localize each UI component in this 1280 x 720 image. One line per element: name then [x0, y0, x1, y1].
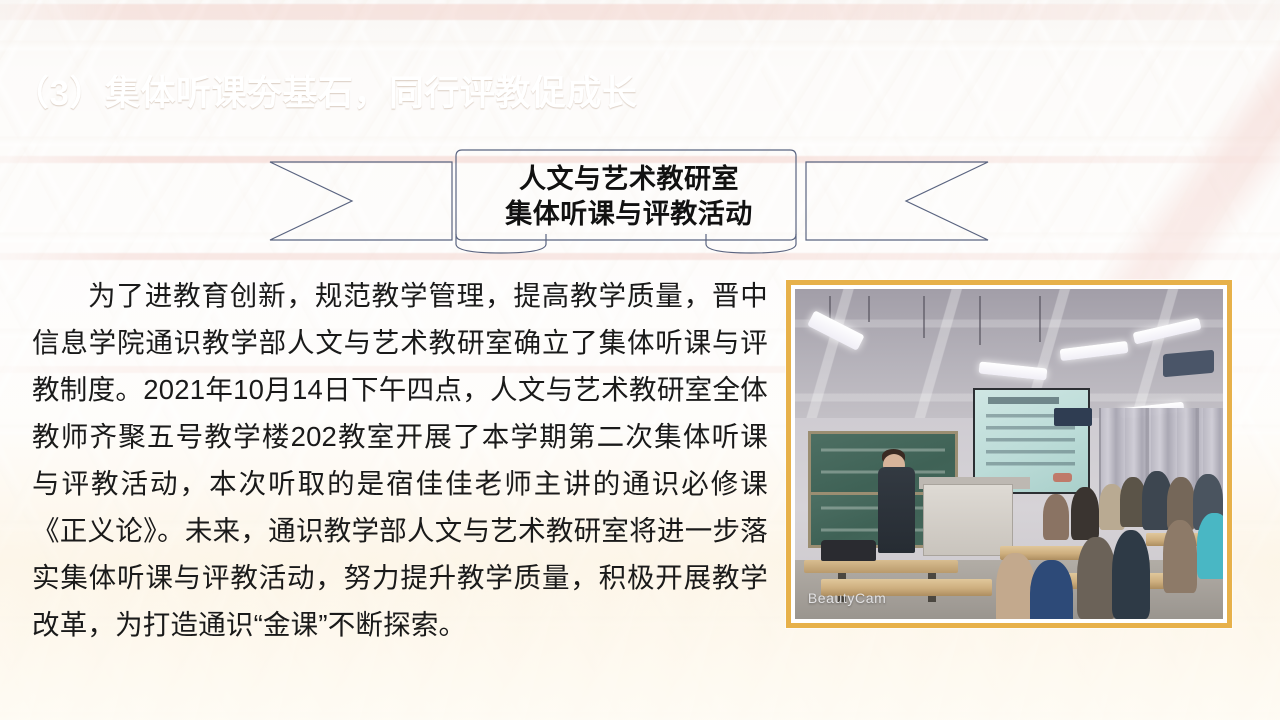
classroom-photo: BeautyCam: [795, 289, 1223, 619]
photo-bench: [804, 560, 958, 573]
ribbon-title: 人文与艺术教研室 集体听课与评教活动: [266, 162, 992, 231]
photo-student: [1112, 530, 1151, 619]
photo-student: [996, 553, 1035, 619]
ribbon-title-line-1: 人文与艺术教研室: [266, 162, 992, 197]
photo-speaker-unit: [1054, 408, 1093, 426]
ribbon-header: 人文与艺术教研室 集体听课与评教活动: [266, 148, 992, 258]
ribbon-fold-right: [706, 234, 796, 253]
photo-projector: [1163, 349, 1214, 377]
photo-student: [1077, 537, 1116, 620]
title-banner: （3）集体听课夯基石，同行评教促成长: [0, 46, 662, 134]
photo-student: [1043, 494, 1069, 540]
photo-student: [1030, 560, 1073, 619]
body-paragraph: 为了进教育创新，规范教学管理，提高教学质量，晋中信息学院通识教学部人文与艺术教研…: [32, 272, 768, 648]
photo-podium: [923, 484, 1013, 557]
photo-student: [1071, 487, 1099, 540]
photo-light-rod: [1039, 296, 1041, 342]
photo-slide-graphic: [1053, 473, 1072, 482]
ribbon-title-line-2: 集体听课与评教活动: [266, 197, 992, 232]
photo-student: [1197, 513, 1223, 579]
photo-bag: [821, 540, 877, 561]
classroom-photo-frame: BeautyCam: [786, 280, 1232, 628]
ribbon-fold-left: [456, 234, 546, 253]
photo-light-rod: [923, 296, 925, 339]
photo-teacher: [878, 467, 914, 553]
photo-light-rod: [868, 296, 870, 322]
photo-light-rod: [979, 296, 981, 346]
slide-canvas: （3）集体听课夯基石，同行评教促成长 人文与艺术教研室 集体听课与评教活动 为了…: [0, 0, 1280, 720]
photo-watermark: BeautyCam: [808, 590, 887, 606]
photo-slide-title-bar: [988, 397, 1058, 404]
page-title: （3）集体听课夯基石，同行评教促成长: [0, 65, 637, 116]
photo-student: [1163, 520, 1197, 593]
